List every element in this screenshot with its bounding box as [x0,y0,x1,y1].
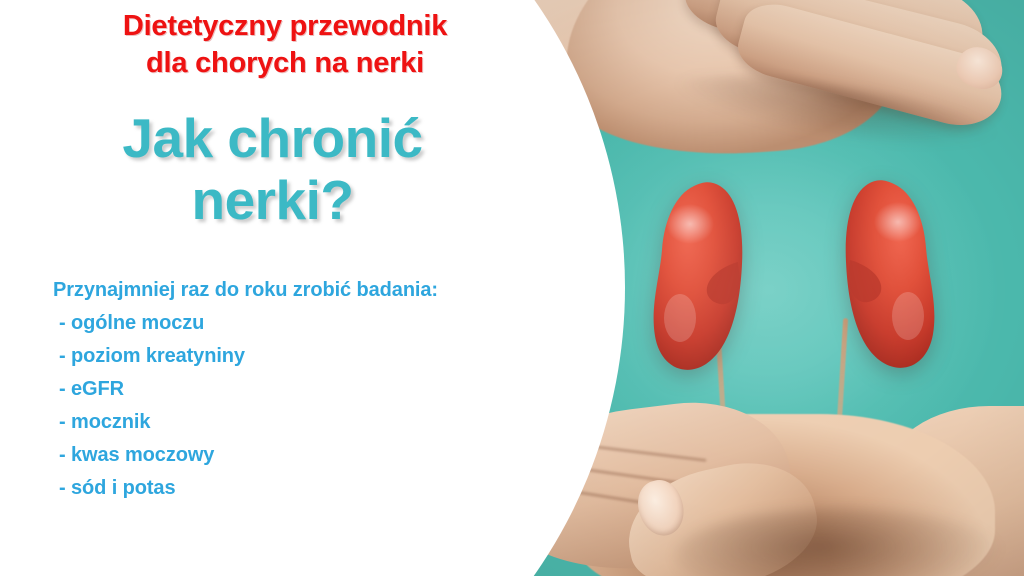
headline-line-2: dla chorych na nerki [0,45,570,82]
headline: Dietetyczny przewodnik dla chorych na ne… [0,8,570,82]
page-title: Jak chronić nerki? [0,108,545,231]
slide-canvas: Dietetyczny przewodnik dla chorych na ne… [0,0,1024,576]
text-content-area: Dietetyczny przewodnik dla chorych na ne… [0,0,600,576]
list-item: - mocznik [59,406,438,439]
recommendation-list: Przynajmniej raz do roku zrobić badania:… [52,274,438,505]
list-item: - ogólne moczu [59,307,438,340]
list-intro: Przynajmniej raz do roku zrobić badania: [53,274,438,307]
list-item: - poziom kreatyniny [59,340,438,373]
title-line-2: nerki? [0,170,545,232]
list-item: - eGFR [59,373,438,406]
list-item: - kwas moczowy [59,439,438,472]
title-line-1: Jak chronić [0,108,545,170]
list-item: - sód i potas [59,472,438,505]
headline-line-1: Dietetyczny przewodnik [0,8,570,45]
